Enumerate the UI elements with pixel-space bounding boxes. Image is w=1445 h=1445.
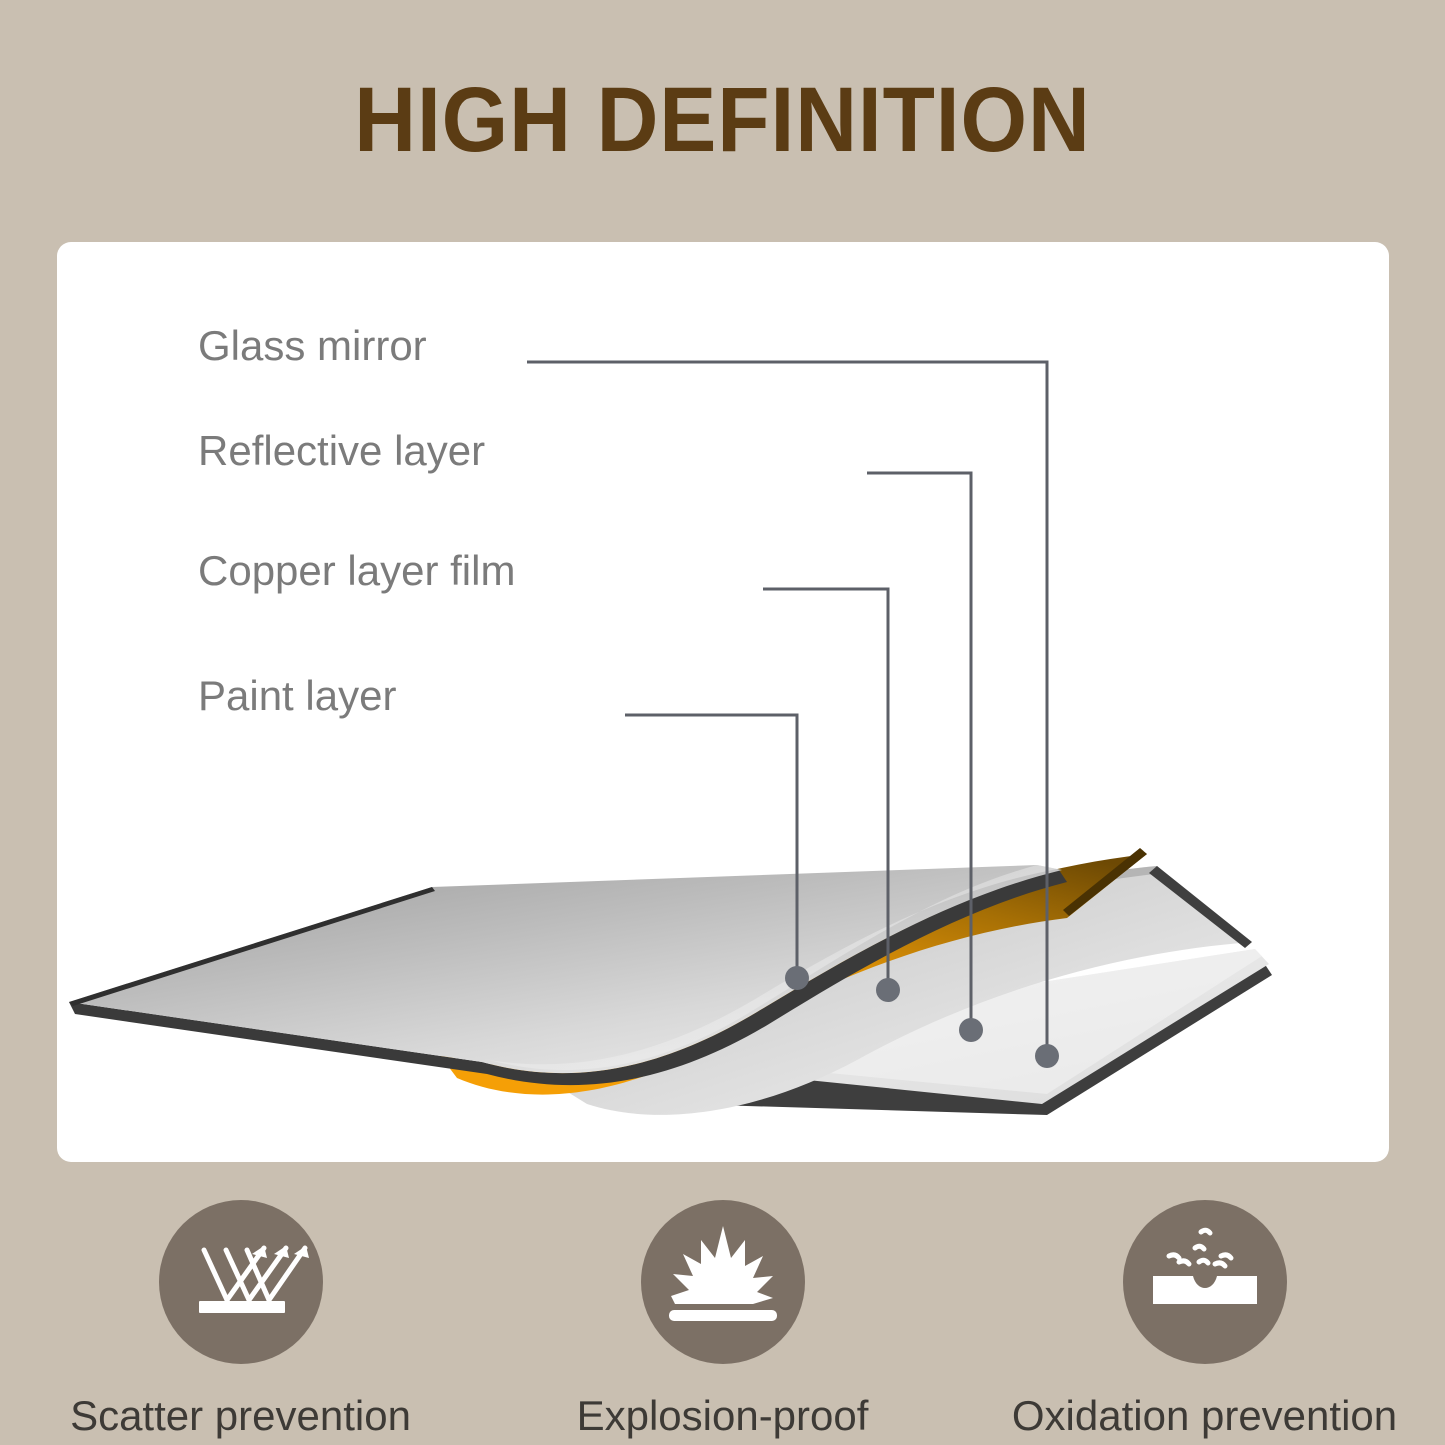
leader-dot-paint-layer	[785, 966, 809, 990]
feature-icon-circle	[1123, 1200, 1287, 1364]
feature-icon-circle	[641, 1200, 805, 1364]
explosion-burst-icon	[641, 1200, 805, 1364]
feature-explosion-proof[interactable]: Explosion-proof	[482, 1200, 963, 1440]
oxidation-slab-icon	[1123, 1200, 1287, 1364]
leader-dot-copper-layer-film	[876, 978, 900, 1002]
feature-label-explosion-proof: Explosion-proof	[482, 1392, 963, 1440]
feature-oxidation-prevention[interactable]: Oxidation prevention	[964, 1200, 1445, 1440]
reflect-arrows-icon	[159, 1200, 323, 1364]
feature-scatter-prevention[interactable]: Scatter prevention	[0, 1200, 481, 1440]
feature-row: Scatter prevention Explosion-proof	[0, 1200, 1445, 1445]
product-feature-infographic: HIGH DEFINITION Glass mirror Reflective …	[0, 0, 1445, 1445]
mirror-cutaway-illustration	[57, 242, 1389, 1162]
feature-icon-circle	[159, 1200, 323, 1364]
page-title: HIGH DEFINITION	[51, 72, 1395, 169]
feature-label-scatter-prevention: Scatter prevention	[0, 1392, 481, 1440]
leader-dot-reflective-layer	[959, 1018, 983, 1042]
feature-label-oxidation-prevention: Oxidation prevention	[964, 1392, 1445, 1440]
leader-dot-glass-mirror	[1035, 1044, 1059, 1068]
